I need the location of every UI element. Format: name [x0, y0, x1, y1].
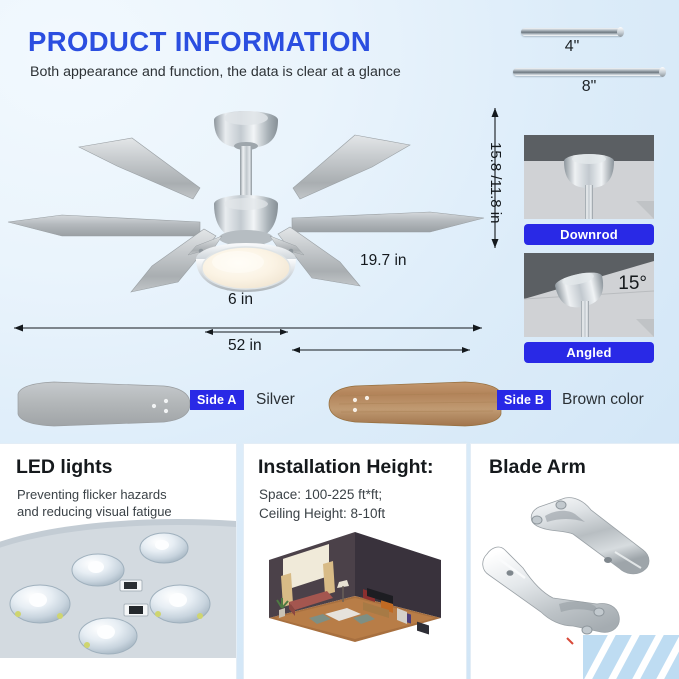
installation-height-heading: Installation Height:: [258, 456, 434, 479]
angled-badge: Angled: [524, 342, 654, 363]
panel-led-lights: LED lights Preventing flicker hazards an…: [0, 443, 237, 679]
led-board-image: [0, 508, 236, 658]
side-b-badge: Side B: [497, 390, 551, 410]
total-width-label: 52 in: [228, 337, 262, 355]
blade-side-a-image: [14, 376, 194, 432]
blade-sides-row: Side A Silver Side B Brown color: [0, 372, 679, 434]
blade-span-label: 19.7 in: [360, 252, 407, 270]
installation-space-line: Space: 100-225 ft*ft;: [259, 486, 459, 505]
side-a-color-text: Silver: [256, 391, 295, 409]
led-lights-heading: LED lights: [16, 456, 112, 479]
installation-height-description: Space: 100-225 ft*ft; Ceiling Height: 8-…: [259, 486, 459, 523]
side-b-color-text: Brown color: [562, 391, 644, 409]
product-information-infographic: PRODUCT INFORMATION Both appearance and …: [0, 0, 679, 679]
blade-arm-heading: Blade Arm: [489, 456, 586, 479]
decorative-stripes: [583, 635, 679, 679]
rod-8-inch: 8": [513, 68, 673, 96]
height-arrow: [482, 100, 508, 350]
feature-panels: LED lights Preventing flicker hazards an…: [0, 443, 679, 679]
led-lights-line-1: Preventing flicker hazards: [17, 486, 222, 503]
side-a-badge: Side A: [190, 390, 244, 410]
downrod-badge: Downrod: [524, 224, 654, 245]
rod-4-inch-label: 4": [513, 38, 631, 56]
angle-degree-label: 15°: [618, 273, 647, 295]
rod-4-inch-graphic: [521, 28, 623, 36]
body-width-label: 6 in: [228, 291, 253, 309]
page-title: PRODUCT INFORMATION: [28, 26, 371, 58]
blade-side-b-image: [325, 376, 505, 432]
downrod-mount-image: [524, 135, 654, 219]
panel-installation-height: Installation Height: Space: 100-225 ft*f…: [243, 443, 467, 679]
rod-8-inch-graphic: [513, 68, 665, 76]
rod-4-inch: 4": [513, 28, 665, 56]
fan-height-label: 15.8 /11.8 in: [487, 142, 504, 223]
installation-ceiling-line: Ceiling Height: 8-10ft: [259, 505, 459, 524]
angled-mount-card[interactable]: 15° Angled: [524, 253, 654, 363]
downrod-mount-card[interactable]: Downrod: [524, 135, 654, 245]
page-subtitle: Both appearance and function, the data i…: [30, 64, 401, 80]
angled-mount-image: 15°: [524, 253, 654, 337]
rod-8-inch-label: 8": [513, 78, 665, 96]
room-isometric-image: [255, 526, 455, 646]
